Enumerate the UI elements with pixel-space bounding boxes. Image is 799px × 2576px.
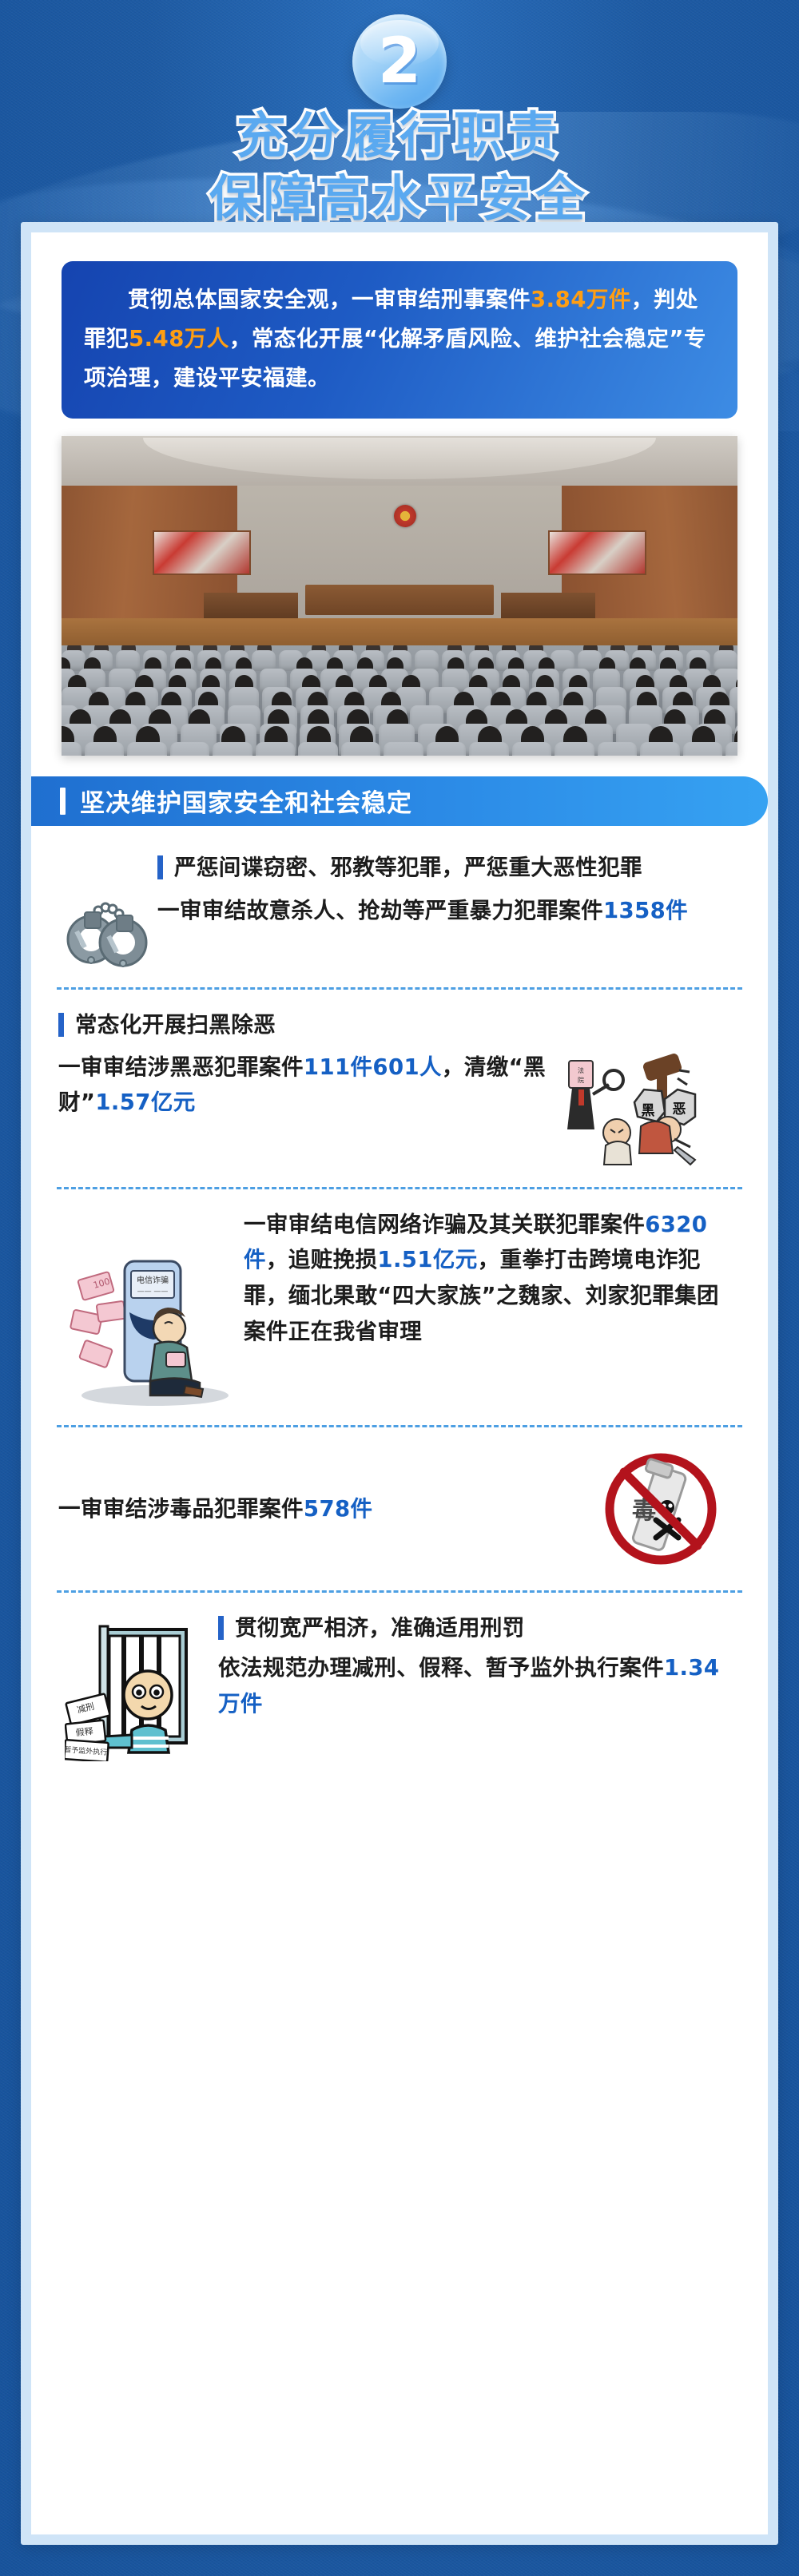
photo-seat [427,742,467,756]
photo-seat [213,742,252,756]
photo-bench-right [501,593,595,618]
block-1-row: 一审审结故意杀人、抢劫等严重暴力犯罪案件1358件 [58,893,741,970]
photo-seat [62,742,81,756]
block-2-lead-text: 常态化开展扫黑除恶 [75,1007,276,1043]
lead-accent-bar [58,1013,64,1037]
photo-screen-right [548,530,646,575]
badge-number: 2 [378,30,421,93]
block-1-icon-col [58,893,157,970]
content-block-5: 减刑 假释 暂予监外执行 贯彻宽严相济，准确适用刑罚 依法规范办理减刑、假释、暂… [49,1610,750,1761]
svg-text:黑: 黑 [642,1103,655,1119]
block-5-lead: 贯彻宽严相济，准确适用刑罚 [218,1610,741,1646]
content-block-4: 一审审结涉毒品犯罪案件578件 毒 [49,1445,750,1573]
block-3-stat-value-2: 1.51亿元 [377,1247,477,1272]
block-5-stat: 依法规范办理减刑、假释、暂予监外执行案件1.34万件 [218,1650,741,1721]
prisoner-parole-icon: 减刑 假释 暂予监外执行 [65,1621,213,1761]
content-card: 贯彻总体国家安全观，一审审结刑事案件3.84万件，判处罪犯5.48万人，常态化开… [31,232,768,2534]
block-2-stat-value-2: 1.57亿元 [95,1090,195,1115]
photo-audience [62,645,737,756]
national-emblem-icon [394,505,416,527]
block-2-stat-pre: 一审审结涉黑恶犯罪案件 [58,1054,304,1080]
photo-judge-bench [305,585,495,615]
handcuffs-icon [64,893,152,970]
divider-2 [57,1187,742,1189]
block-4-stat-value: 578件 [304,1496,373,1522]
intro-stat-cases: 3.84万件 [531,287,631,312]
section-title: 坚决维护国家安全和社会稳定 [80,783,412,819]
block-3-icon-col: 100 电信诈骗 —— —— [58,1207,244,1407]
photo-seat [469,742,509,756]
photo-seat [384,742,423,756]
block-3-stat-pre: 一审审结电信网络诈骗及其关联犯罪案件 [244,1212,645,1237]
photo-seat [555,742,594,756]
photo-seat [256,742,296,756]
photo-bench-left [204,593,298,618]
block-3-stat: 一审审结电信网络诈骗及其关联犯罪案件6320件，追赃挽损1.51亿元，重拳打击跨… [244,1207,741,1349]
block-2-stat-value-1: 111件601人 [304,1054,442,1080]
photo-seat [341,742,381,756]
photo-seat [252,650,276,671]
block-3-stat-mid: ，追赃挽损 [266,1247,378,1272]
title-line-2: 保障高水平安全 [0,167,799,230]
block-5-lead-text: 贯彻宽严相济，准确适用刑罚 [235,1610,525,1646]
photo-seat [640,742,680,756]
block-4-icon-col: 毒 [581,1445,741,1573]
photo-screen-left [153,530,251,575]
block-2-stat: 一审审结涉黑恶犯罪案件111件601人，清缴“黑财”1.57亿元 [58,1050,554,1121]
block-1-stat-value: 1358件 [603,898,688,923]
svg-text:恶: 恶 [673,1101,686,1117]
phone-fraud-icon: 100 电信诈骗 —— —— [66,1244,237,1407]
photo-seat [725,742,737,756]
divider-4 [57,1590,742,1593]
block-1-stat: 一审审结故意杀人、抢劫等严重暴力犯罪案件1358件 [157,893,741,929]
content-block-3: 100 电信诈骗 —— —— 一审 [49,1207,750,1407]
content-block-1: 严惩间谍窃密、邪教等犯罪，严惩重大恶性犯罪 [49,850,750,970]
intro-panel: 贯彻总体国家安全观，一审审结刑事案件3.84万件，判处罪犯5.48万人，常态化开… [62,261,737,419]
photo-seat [512,742,552,756]
block-5-icon-col: 减刑 假释 暂予监外执行 [58,1610,218,1761]
section-header-bar: 坚决维护国家安全和社会稳定 [31,776,768,826]
block-1-lead: 严惩间谍窃密、邪教等犯罪，严惩重大恶性犯罪 [157,850,741,886]
block-3-row: 100 电信诈骗 —— —— 一审 [58,1207,741,1407]
section-accent-bar [60,788,66,815]
block-4-stat: 一审审结涉毒品犯罪案件578件 [58,1491,581,1527]
block-2-icon-col: 法 院 黑 恶 [554,1050,714,1169]
title-line-1: 充分履行职责 [0,104,799,167]
divider-1 [57,987,742,990]
content-frame: 贯彻总体国家安全观，一审审结刑事案件3.84万件，判处罪犯5.48万人，常态化开… [21,222,778,2545]
block-4-stat-pre: 一审审结涉毒品犯罪案件 [58,1496,304,1522]
lead-accent-bar [218,1616,224,1640]
section-number-badge: 2 [352,14,447,109]
page-title: 充分履行职责 保障高水平安全 [0,104,799,231]
block-5-text-col: 贯彻宽严相济，准确适用刑罚 依法规范办理减刑、假释、暂予监外执行案件1.34万件 [218,1610,741,1722]
block-1-stat-pre: 一审审结故意杀人、抢劫等严重暴力犯罪案件 [157,898,603,923]
lead-accent-bar [157,855,163,879]
photo-seat [85,742,125,756]
svg-text:法: 法 [578,1066,584,1074]
block-4-row: 一审审结涉毒品犯罪案件578件 毒 [58,1445,741,1573]
block-1-lead-text: 严惩间谍窃密、邪教等犯罪，严惩重大恶性犯罪 [174,850,642,886]
photo-seat [415,650,439,671]
gavel-gang-icon: 法 院 黑 恶 [558,1050,710,1169]
no-drugs-icon: 毒 [597,1445,725,1573]
svg-text:—— ——: —— —— [137,1288,168,1296]
intro-stat-persons: 5.48万人 [129,326,229,351]
svg-text:电信诈骗: 电信诈骗 [137,1275,169,1285]
svg-text:假释: 假释 [74,1725,93,1738]
photo-seat [683,742,723,756]
block-5-row: 减刑 假释 暂予监外执行 贯彻宽严相济，准确适用刑罚 依法规范办理减刑、假释、暂… [58,1610,741,1761]
photo-seat [170,742,210,756]
block-5-stat-pre: 依法规范办理减刑、假释、暂予监外执行案件 [218,1655,664,1681]
content-block-2: 常态化开展扫黑除恶 一审审结涉黑恶犯罪案件111件601人，清缴“黑财”1.57… [49,1007,750,1169]
block-2-lead: 常态化开展扫黑除恶 [58,1007,741,1043]
photo-seat [578,650,602,671]
block-2-row: 一审审结涉黑恶犯罪案件111件601人，清缴“黑财”1.57亿元 法 院 [58,1050,741,1169]
photo-seat [127,742,167,756]
svg-text:院: 院 [578,1076,584,1084]
photo-seat [598,742,638,756]
photo-seat [116,650,140,671]
photo-seat [298,742,338,756]
photo-seat [714,650,737,671]
intro-segment-1: 贯彻总体国家安全观，一审审结刑事案件 [128,287,531,312]
badge-container: 2 [0,14,799,109]
divider-3 [57,1425,742,1427]
courtroom-photo [62,436,737,756]
